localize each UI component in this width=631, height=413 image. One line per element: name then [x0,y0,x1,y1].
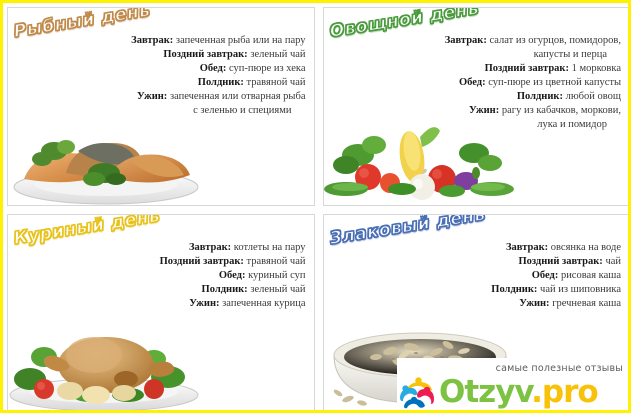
meal-value: запеченная или отварная рыба [170,91,306,102]
logo-name-primary: Otzyv [439,374,531,410]
meal-value: капусты и перца [534,49,607,60]
meal-value: салат из огурцов, помидоров, [489,35,621,46]
meal-label: Завтрак: [189,242,231,253]
meal-label: Обед: [219,270,246,281]
meal-value: запеченная рыба или на пару [176,35,306,46]
meal-label: Поздний завтрак: [163,49,247,60]
meal-value: с зеленью и специями [193,105,291,116]
meal-label: Ужин: [137,91,167,102]
meal-value: чай из шиповника [540,284,621,295]
meal-row: Ужин: запеченная курица [74,297,306,311]
meal-list-chicken-day: Завтрак: котлеты на пару Поздний завтрак… [74,241,306,311]
meal-row-continuation: лука и помидор [389,118,621,132]
day-panel-grid: Рыбный день Завтрак: запеченная рыба или… [3,3,631,413]
meal-label: Поздний завтрак: [160,256,244,267]
meal-row: Полдник: зеленый чай [74,283,306,297]
panel-chicken-day: Куриный день Завтрак: котлеты на пару По… [7,214,315,413]
panel-grain-day: Злаковый день Завтрак: овсянка на воде П… [323,214,631,413]
meal-row: Поздний завтрак: травяной чай [74,255,306,269]
meal-value: овсянка на воде [551,242,621,253]
meal-row: Ужин: гречневая каша [389,297,621,311]
meal-list-fish-day: Завтрак: запеченная рыба или на пару Поз… [74,34,306,118]
meal-row: Поздний завтрак: 1 морковка [389,62,621,76]
menu-poster: Рыбный день Завтрак: запеченная рыба или… [0,0,631,413]
meal-row: Ужин: рагу из кабачков, моркови, [389,104,621,118]
meal-label: Полдник: [198,77,244,88]
meal-value: чай [605,256,621,267]
meal-row: Полдник: чай из шиповника [389,283,621,297]
meal-row: Завтрак: запеченная рыба или на пару [74,34,306,48]
meal-label: Завтрак: [131,35,173,46]
meal-label: Ужин: [469,105,499,116]
meal-value: куриный суп [248,270,305,281]
meal-label: Обед: [532,270,559,281]
meal-row: Обед: куриный суп [74,269,306,283]
meal-row: Поздний завтрак: чай [389,255,621,269]
meal-label: Поздний завтрак: [485,63,569,74]
meal-label: Ужин: [519,298,549,309]
logo-name-secondary: .pro [531,374,598,410]
meal-row-continuation: капусты и перца [389,48,621,62]
meal-row: Завтрак: овсянка на воде [389,241,621,255]
meal-row: Обед: суп-пюре из хека [74,62,306,76]
meal-value: травяной чай [247,77,306,88]
meal-value: 1 морковка [572,63,621,74]
meal-row: Поздний завтрак: зеленый чай [74,48,306,62]
roast-chicken-plate-photo [8,307,208,411]
logo-row: Otzyv.pro [397,375,629,409]
meal-label: Поздний завтрак: [518,256,602,267]
meal-value: суп-пюре из хека [229,63,306,74]
meal-list-grain-day: Завтрак: овсянка на воде Поздний завтрак… [389,241,621,311]
meal-label: Полдник: [202,284,248,295]
meal-value: рисовая каша [561,270,621,281]
meal-row: Завтрак: салат из огурцов, помидоров, [389,34,621,48]
meal-value: рагу из кабачков, моркови, [502,105,621,116]
meal-value: зеленый чай [250,49,305,60]
meal-value: котлеты на пару [234,242,306,253]
panel-vegetable-day: Овощной день Завтрак: салат из огурцов, … [323,7,631,206]
meal-row: Полдник: травяной чай [74,76,306,90]
meal-value: суп-пюре из цветной капусты [488,77,621,88]
meal-row: Завтрак: котлеты на пару [74,241,306,255]
meal-row: Обед: суп-пюре из цветной капусты [389,76,621,90]
meal-value: запеченная курица [222,298,305,309]
meal-label: Обед: [459,77,486,88]
meal-label: Полдник: [517,91,563,102]
meal-row-continuation: с зеленью и специями [74,104,306,118]
meal-row: Обед: рисовая каша [389,269,621,283]
meal-label: Ужин: [189,298,219,309]
meal-value: лука и помидор [537,119,607,130]
meal-value: любой овощ [566,91,621,102]
otzyv-pro-logo[interactable]: самые полезные отзывы [397,358,629,411]
meal-label: Завтрак: [506,242,548,253]
meal-list-vegetable-day: Завтрак: салат из огурцов, помидоров, ка… [389,34,621,132]
meal-row: Полдник: любой овощ [389,90,621,104]
meal-value: гречневая каша [552,298,621,309]
meal-label: Обед: [200,63,227,74]
meal-label: Завтрак: [445,35,487,46]
meal-value: зеленый чай [250,284,305,295]
meal-label: Полдник: [491,284,537,295]
meal-row: Ужин: запеченная или отварная рыба [74,90,306,104]
panel-fish-day: Рыбный день Завтрак: запеченная рыба или… [7,7,315,206]
logo-wordmark: Otzyv.pro [439,376,598,408]
meal-value: травяной чай [247,256,306,267]
people-group-icon [399,375,435,409]
